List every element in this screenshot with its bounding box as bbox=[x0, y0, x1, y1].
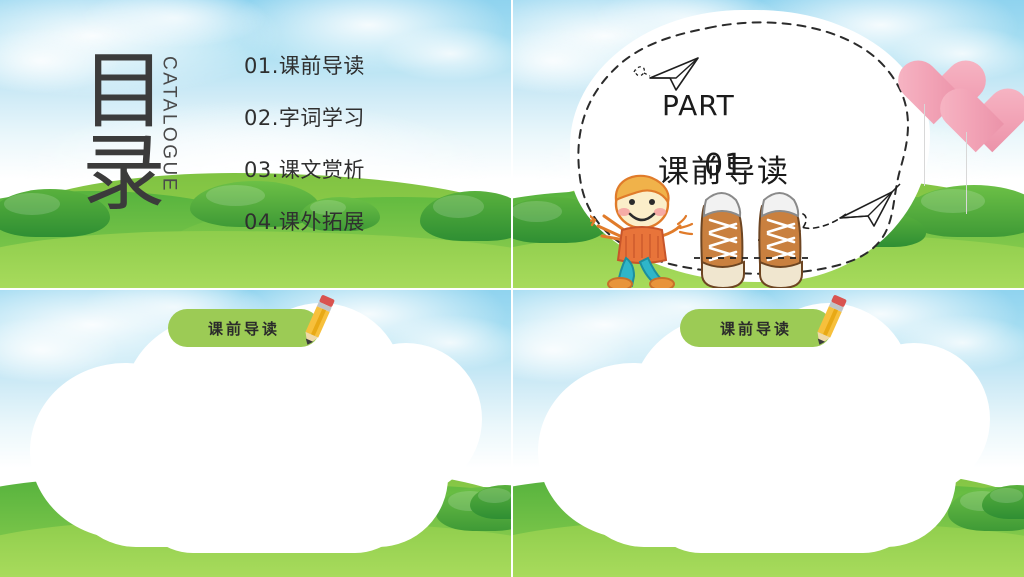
sneakers-icon bbox=[694, 184, 814, 289]
slide-learning-goals[interactable]: 课前导读 学习目标 1、自主学习本课生字，并正确、工整进行书写。 2、联系上下文… bbox=[512, 289, 1024, 577]
pencil-icon bbox=[295, 293, 341, 349]
pencil-icon bbox=[807, 293, 853, 349]
section-badge-label: 课前导读 bbox=[208, 318, 280, 339]
heart-balloon-icon bbox=[928, 62, 1004, 134]
catalogue-title-zh: 目录 bbox=[78, 46, 155, 210]
slide-catalogue[interactable]: 目录 CATALOGUE 01.课前导读 02.字词学习 03.课文赏析 04.… bbox=[0, 0, 512, 289]
catalogue-item-1[interactable]: 01.课前导读 bbox=[244, 50, 365, 80]
slide-part-divider[interactable]: PART 课前导读 01 bbox=[512, 0, 1024, 289]
catalogue-heading: 目录 CATALOGUE bbox=[78, 46, 179, 210]
catalogue-title-en: CATALOGUE bbox=[157, 56, 179, 193]
section-badge-label: 课前导读 bbox=[720, 318, 792, 339]
catalogue-list: 01.课前导读 02.字词学习 03.课文赏析 04.课外拓展 bbox=[244, 50, 365, 258]
part-heading: PART 课前导读 01 bbox=[662, 92, 902, 160]
part-label: PART bbox=[662, 92, 902, 120]
slide-grid: 目录 CATALOGUE 01.课前导读 02.字词学习 03.课文赏析 04.… bbox=[0, 0, 1024, 577]
paper-plane-icon bbox=[632, 52, 712, 94]
slide-content-intro[interactable]: 课前导读 内容简介 《鞋匠的儿子》主要内容：亲爱的小读者，读了这《鞋匠的儿子》，… bbox=[0, 289, 512, 577]
grid-divider-vertical bbox=[511, 0, 513, 577]
catalogue-item-2[interactable]: 02.字词学习 bbox=[244, 102, 365, 132]
catalogue-item-3[interactable]: 03.课文赏析 bbox=[244, 154, 365, 184]
part-number: 01 bbox=[704, 148, 744, 183]
catalogue-item-4[interactable]: 04.课外拓展 bbox=[244, 206, 365, 236]
